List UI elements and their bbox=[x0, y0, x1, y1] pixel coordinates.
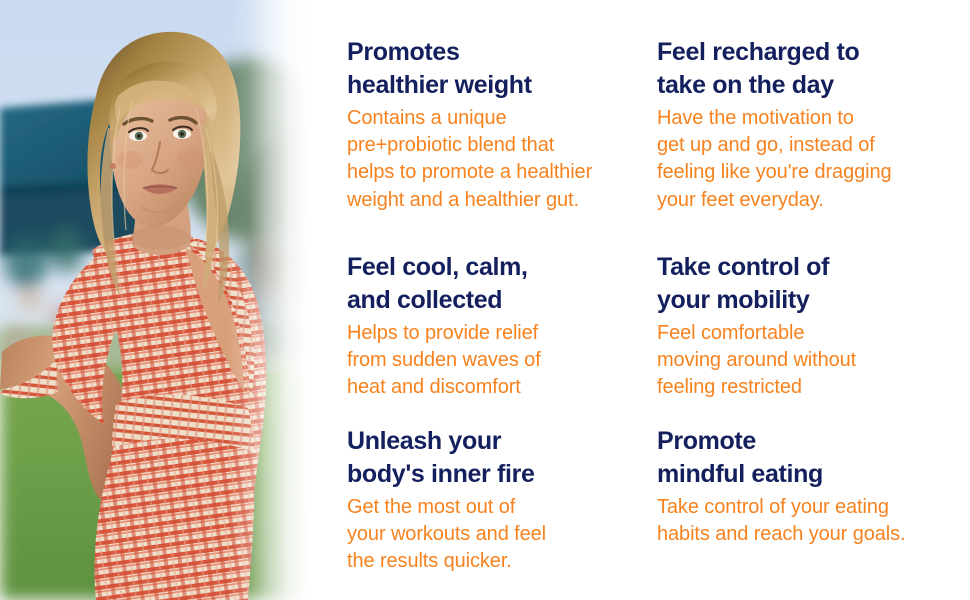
benefit-title: Feel recharged to take on the day bbox=[657, 36, 967, 103]
benefits-infographic: Promotes healthier weight Contains a uni… bbox=[0, 0, 970, 600]
benefit-title: Promote mindful eating bbox=[657, 425, 967, 492]
benefits-column-right: Feel recharged to take on the day Have t… bbox=[657, 0, 967, 600]
benefit-promote-mindful-eating: Promote mindful eating Take control of y… bbox=[657, 425, 967, 548]
benefit-title: Take control of your mobility bbox=[657, 251, 967, 318]
woman-hands-on-hips-photo bbox=[0, 0, 330, 600]
benefits-content: Promotes healthier weight Contains a uni… bbox=[330, 0, 970, 600]
benefit-feel-cool-calm-collected: Feel cool, calm, and collected Helps to … bbox=[347, 251, 652, 402]
benefits-column-left: Promotes healthier weight Contains a uni… bbox=[347, 0, 652, 600]
benefit-promotes-healthier-weight: Promotes healthier weight Contains a uni… bbox=[347, 36, 652, 214]
benefit-body: Have the motivation to get up and go, in… bbox=[657, 105, 967, 215]
benefit-feel-recharged: Feel recharged to take on the day Have t… bbox=[657, 36, 967, 214]
benefit-body: Helps to provide relief from sudden wave… bbox=[347, 320, 652, 402]
benefit-title: Promotes healthier weight bbox=[347, 36, 652, 103]
benefit-unleash-body-inner-fire: Unleash your body's inner fire Get the m… bbox=[347, 425, 652, 576]
benefit-take-control-mobility: Take control of your mobility Feel comfo… bbox=[657, 251, 967, 402]
benefit-body: Get the most out of your workouts and fe… bbox=[347, 494, 652, 576]
benefit-title: Unleash your body's inner fire bbox=[347, 425, 652, 492]
benefit-body: Take control of your eating habits and r… bbox=[657, 494, 967, 549]
hero-photo bbox=[0, 0, 330, 600]
benefit-body: Feel comfortable moving around without f… bbox=[657, 320, 967, 402]
benefit-body: Contains a unique pre+probiotic blend th… bbox=[347, 105, 652, 215]
benefit-title: Feel cool, calm, and collected bbox=[347, 251, 652, 318]
